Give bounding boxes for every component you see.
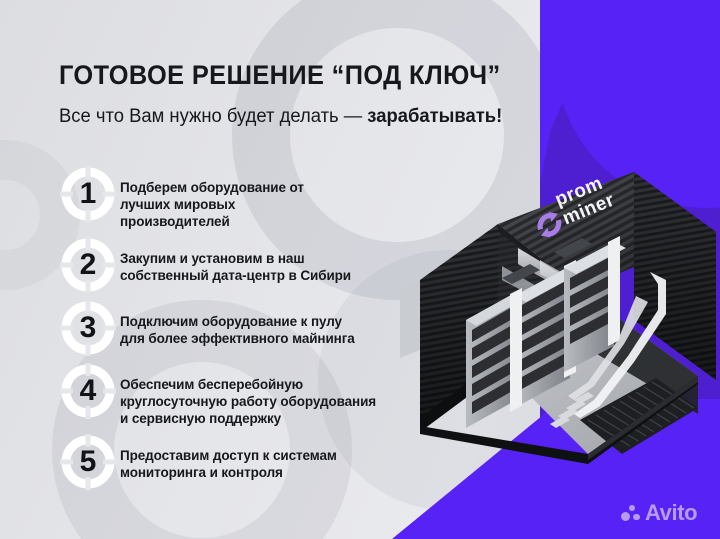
step-text: Обеспечим бесперебойную круглосуточную р… (120, 369, 376, 427)
list-item: 5 Предоставим доступ к системам монитори… (60, 440, 390, 490)
list-item: 4 Обеспечим бесперебойную круглосуточную… (60, 369, 390, 427)
step-line: Подберем оборудование от (120, 179, 304, 196)
step-line: для более эффективного майнинга (120, 330, 355, 347)
promo-banner: ГОТОВОЕ РЕШЕНИЕ “ПОД КЛЮЧ” Все что Вам н… (0, 0, 720, 539)
mining-container-illustration (398, 168, 720, 508)
step-line: мониторинга и контроля (120, 464, 337, 481)
step-line: круглосуточную работу оборудования (120, 393, 376, 410)
step-number: 5 (60, 434, 116, 490)
step-text: Предоставим доступ к системам мониторинг… (120, 440, 337, 481)
step-text: Подключим оборудование к пулу для более … (120, 306, 355, 347)
step-line: Подключим оборудование к пулу (120, 313, 355, 330)
step-line: собственный дата-центр в Сибири (120, 267, 351, 284)
step-number: 1 (60, 166, 116, 222)
page-subtitle: Все что Вам нужно будет делать — зарабат… (59, 106, 502, 128)
list-item: 1 Подберем оборудование от лучших мировы… (60, 172, 390, 230)
step-badge: 4 (60, 363, 116, 419)
step-text: Подберем оборудование от лучших мировых … (120, 172, 304, 230)
subtitle-plain: Все что Вам нужно будет делать — (59, 106, 367, 127)
step-line: Предоставим доступ к системам (120, 447, 337, 464)
step-line: производителей (120, 213, 304, 230)
step-text: Закупим и установим в наш собственный да… (120, 243, 351, 284)
subtitle-strong: зарабатывать! (367, 106, 502, 127)
list-item: 3 Подключим оборудование к пулу для боле… (60, 306, 390, 356)
step-badge: 3 (60, 300, 116, 356)
step-badge: 1 (60, 166, 116, 222)
purple-panel-notch (595, 0, 720, 16)
step-number: 2 (60, 237, 116, 293)
step-line: Закупим и установим в наш (120, 250, 351, 267)
avito-dots-icon (621, 505, 640, 522)
step-line: и сервисную поддержку (120, 410, 376, 427)
step-badge: 2 (60, 237, 116, 293)
container-datacenter-icon (398, 168, 720, 508)
avito-watermark: Avito (621, 502, 697, 524)
page-title: ГОТОВОЕ РЕШЕНИЕ “ПОД КЛЮЧ” (59, 60, 501, 91)
step-line: Обеспечим бесперебойную (120, 376, 376, 393)
steps-list: 1 Подберем оборудование от лучших мировы… (60, 172, 390, 503)
list-item: 2 Закупим и установим в наш собственный … (60, 243, 390, 293)
step-badge: 5 (60, 434, 116, 490)
step-number: 3 (60, 300, 116, 356)
step-line: лучших мировых (120, 196, 304, 213)
step-number: 4 (60, 363, 116, 419)
avito-wordmark: Avito (645, 502, 697, 524)
